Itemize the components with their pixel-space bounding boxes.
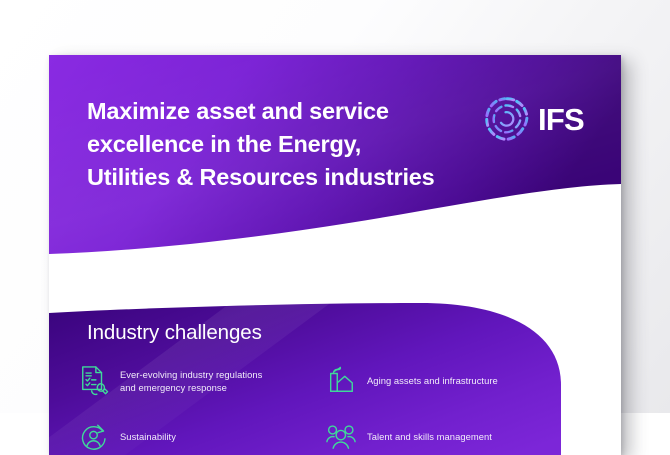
page-background: Maximize asset and service excellence in… [0,0,670,413]
clipboard-checklist-wrench-icon [79,365,109,397]
ifs-logo: IFS [483,93,593,145]
industry-challenges-panel: Industry challenges [49,277,621,455]
ifs-wordmark: IFS [538,104,584,135]
challenge-label: Sustainability [120,430,176,443]
challenge-label: Talent and skills management [367,430,492,443]
challenge-item-regulations: Ever-evolving industry regulations and e… [79,363,314,399]
challenge-item-sustainability: Sustainability [79,419,314,455]
page-title: Maximize asset and service excellence in… [87,95,487,194]
challenge-item-aging-assets: Aging assets and infrastructure [326,363,561,399]
challenge-item-talent: Talent and skills management [326,419,561,455]
challenge-label: Ever-evolving industry regulations and e… [120,368,262,395]
factory-building-icon [326,365,356,397]
document-sheet: Maximize asset and service excellence in… [49,55,621,455]
sustainability-person-recycle-icon [79,421,109,453]
challenge-label: Aging assets and infrastructure [367,374,498,387]
header-band: Maximize asset and service excellence in… [49,55,621,285]
ifs-spiral-logo-icon [483,95,531,143]
three-people-group-icon [326,421,356,453]
challenge-grid: Ever-evolving industry regulations and e… [79,363,599,455]
section-heading-industry-challenges: Industry challenges [87,321,262,345]
